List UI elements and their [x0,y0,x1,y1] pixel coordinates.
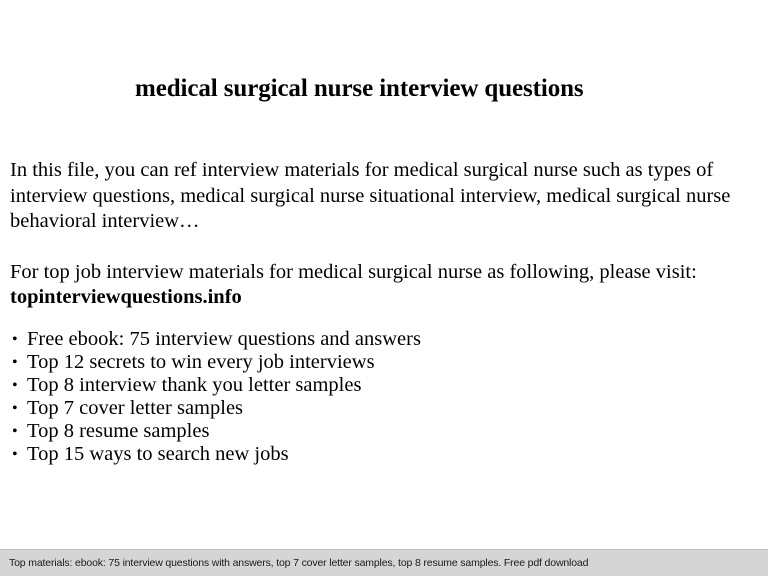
footer-bar: Top materials: ebook: 75 interview quest… [0,549,768,576]
body-content: In this file, you can ref interview mate… [10,158,758,311]
list-item-label: Top 8 interview thank you letter samples [27,374,361,396]
website-link[interactable]: topinterviewquestions.info [10,285,730,311]
list-item-label: Top 7 cover letter samples [27,397,243,419]
bullet-icon: • [12,351,18,374]
page-title: medical surgical nurse interview questio… [135,74,584,104]
bullet-icon: • [12,443,18,466]
list-item: • Top 8 resume samples [10,420,610,443]
bullet-icon: • [12,420,18,443]
list-item: • Top 8 interview thank you letter sampl… [10,374,610,397]
list-item-label: Top 8 resume samples [27,420,209,442]
list-item-label: Free ebook: 75 interview questions and a… [27,328,421,350]
bullet-icon: • [12,397,18,420]
slide-page: medical surgical nurse interview questio… [0,0,768,576]
list-item: • Top 7 cover letter samples [10,397,610,420]
visit-paragraph: For top job interview materials for medi… [10,260,730,311]
bullet-icon: • [12,328,18,351]
list-item: • Top 12 secrets to win every job interv… [10,351,610,374]
materials-list: • Free ebook: 75 interview questions and… [10,328,610,466]
intro-paragraph: In this file, you can ref interview mate… [10,158,752,235]
list-item: • Free ebook: 75 interview questions and… [10,328,610,351]
footer-text: Top materials: ebook: 75 interview quest… [9,557,588,570]
list-item-label: Top 12 secrets to win every job intervie… [27,351,375,373]
list-item-label: Top 15 ways to search new jobs [27,443,289,465]
bullet-icon: • [12,374,18,397]
paragraph-spacer [10,235,758,260]
visit-text: For top job interview materials for medi… [10,261,697,283]
list-item: • Top 15 ways to search new jobs [10,443,610,466]
